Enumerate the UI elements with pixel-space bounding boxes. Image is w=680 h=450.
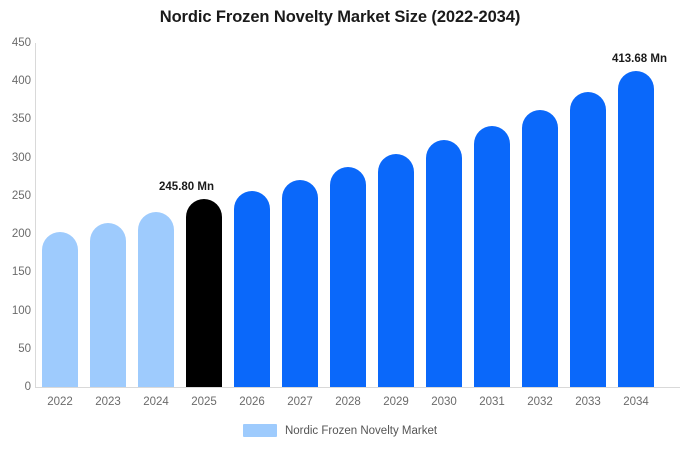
- bar-fill-2022: [42, 232, 78, 387]
- bar-fill-2031: [474, 126, 510, 387]
- x-axis-tick-2024: 2024: [132, 396, 180, 408]
- bars-layer: 245.80 Mn413.68 Mn: [36, 0, 680, 450]
- bar-value-label-2034: 413.68 Mn: [612, 53, 667, 65]
- x-axis-tick-2033: 2033: [564, 396, 612, 408]
- y-axis-tick-50: 50: [1, 343, 31, 355]
- bar-fill-2023: [90, 223, 126, 387]
- bar-2032[interactable]: [522, 110, 558, 387]
- bar-2023[interactable]: [90, 223, 126, 387]
- bar-fill-2030: [426, 140, 462, 387]
- x-axis-tick-2027: 2027: [276, 396, 324, 408]
- chart-legend: Nordic Frozen Novelty Market: [0, 424, 680, 437]
- x-axis-tick-2026: 2026: [228, 396, 276, 408]
- legend-label-nordic-frozen-novelty-market: Nordic Frozen Novelty Market: [285, 425, 437, 437]
- bar-2029[interactable]: [378, 154, 414, 387]
- bar-fill-2024: [138, 212, 174, 387]
- bar-fill-2026: [234, 191, 270, 387]
- bar-2026[interactable]: [234, 191, 270, 387]
- y-axis-tick-labels: 050100150200250300350400450: [0, 0, 31, 450]
- bar-value-label-2025: 245.80 Mn: [159, 181, 214, 193]
- bar-fill-2025: [186, 199, 222, 387]
- y-axis-tick-0: 0: [1, 381, 31, 393]
- bar-2022[interactable]: [42, 232, 78, 387]
- bar-2034[interactable]: 413.68 Mn: [618, 71, 654, 387]
- x-axis-tick-2028: 2028: [324, 396, 372, 408]
- bar-2033[interactable]: [570, 92, 606, 387]
- y-axis-tick-350: 350: [1, 113, 31, 125]
- bar-2024[interactable]: [138, 212, 174, 387]
- bar-fill-2028: [330, 167, 366, 387]
- bar-2028[interactable]: [330, 167, 366, 387]
- chart-container: Nordic Frozen Novelty Market Size (2022-…: [0, 0, 680, 450]
- x-axis-tick-2029: 2029: [372, 396, 420, 408]
- y-axis-tick-450: 450: [1, 37, 31, 49]
- bar-fill-2033: [570, 92, 606, 387]
- bar-2031[interactable]: [474, 126, 510, 387]
- bar-fill-2032: [522, 110, 558, 387]
- y-axis-tick-200: 200: [1, 228, 31, 240]
- x-axis-tick-2022: 2022: [36, 396, 84, 408]
- bar-2030[interactable]: [426, 140, 462, 387]
- y-axis-tick-100: 100: [1, 305, 31, 317]
- bar-2027[interactable]: [282, 180, 318, 387]
- y-axis-tick-400: 400: [1, 75, 31, 87]
- bar-fill-2034: [618, 71, 654, 387]
- x-axis-tick-2023: 2023: [84, 396, 132, 408]
- x-axis-tick-2030: 2030: [420, 396, 468, 408]
- bar-fill-2029: [378, 154, 414, 387]
- y-axis-tick-250: 250: [1, 190, 31, 202]
- x-axis-tick-2034: 2034: [612, 396, 660, 408]
- bar-fill-2027: [282, 180, 318, 387]
- legend-swatch-nordic-frozen-novelty-market: [243, 424, 277, 437]
- x-axis-tick-2031: 2031: [468, 396, 516, 408]
- y-axis-tick-300: 300: [1, 152, 31, 164]
- x-axis-tick-2025: 2025: [180, 396, 228, 408]
- y-axis-tick-150: 150: [1, 266, 31, 278]
- bar-2025[interactable]: 245.80 Mn: [186, 199, 222, 387]
- x-axis-tick-2032: 2032: [516, 396, 564, 408]
